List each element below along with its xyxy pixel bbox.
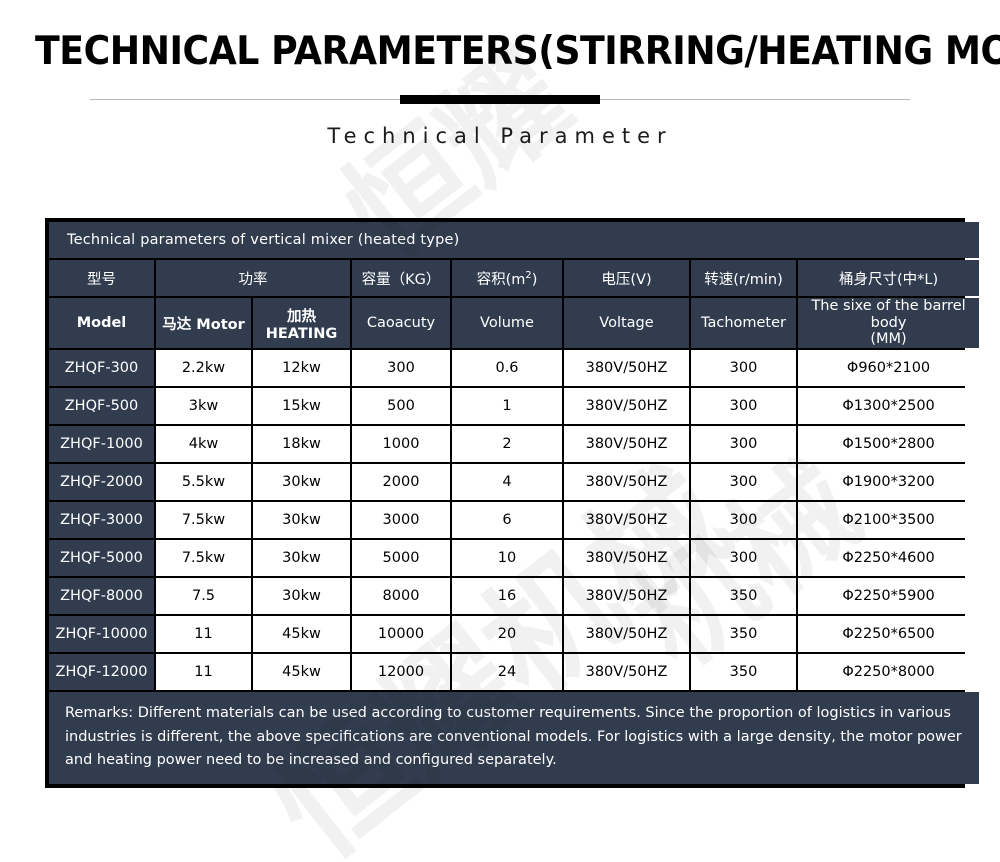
header-tachometer-cn: 转速(r/min) [691,260,796,296]
cell-capacity: 2000 [352,464,450,500]
cell-barrel: Φ1300*2500 [798,388,979,424]
cell-voltage: 380V/50HZ [564,654,689,690]
header-capacity-cn: 容量（KG） [352,260,450,296]
table-row: ZHQF-5003kw15kw5001380V/50HZ300Φ1300*250… [49,388,979,424]
cell-model: ZHQF-300 [49,350,154,386]
header-capacity-en: Caoacuty [352,298,450,348]
header-motor-en: 马达 Motor [156,298,251,348]
cell-model: ZHQF-5000 [49,540,154,576]
cell-voltage: 380V/50HZ [564,578,689,614]
cell-capacity: 500 [352,388,450,424]
cell-voltage: 380V/50HZ [564,350,689,386]
cell-heating: 30kw [253,578,350,614]
cell-capacity: 10000 [352,616,450,652]
cell-motor: 5.5kw [156,464,251,500]
cell-capacity: 300 [352,350,450,386]
cell-voltage: 380V/50HZ [564,616,689,652]
header-model-en: Model [49,298,154,348]
page-header: TECHNICAL PARAMETERS(STIRRING/HEATING MO… [0,0,1000,148]
cell-model: ZHQF-10000 [49,616,154,652]
cell-capacity: 5000 [352,540,450,576]
cell-tachometer: 300 [691,350,796,386]
cell-motor: 7.5 [156,578,251,614]
cell-volume: 24 [452,654,562,690]
cell-barrel: Φ960*2100 [798,350,979,386]
cell-heating: 12kw [253,350,350,386]
cell-model: ZHQF-8000 [49,578,154,614]
cell-heating: 15kw [253,388,350,424]
header-heating-en: 加热HEATING [253,298,350,348]
cell-heating: 45kw [253,654,350,690]
cell-barrel: Φ1900*3200 [798,464,979,500]
table-header-row-en: Model 马达 Motor 加热HEATING Caoacuty Volume… [49,298,979,348]
cell-model: ZHQF-2000 [49,464,154,500]
cell-barrel: Φ2250*4600 [798,540,979,576]
table-banner-row: Technical parameters of vertical mixer (… [49,222,979,258]
cell-volume: 0.6 [452,350,562,386]
cell-motor: 11 [156,616,251,652]
table-row: ZHQF-120001145kw1200024380V/50HZ350Φ2250… [49,654,979,690]
cell-volume: 4 [452,464,562,500]
cell-tachometer: 350 [691,578,796,614]
table-row: ZHQF-50007.5kw30kw500010380V/50HZ300Φ225… [49,540,979,576]
header-volume-cn-suffix: ) [532,272,538,288]
title-divider [90,94,910,106]
header-barrel-en: The sixe of the barrel body (MM) [798,298,979,348]
header-volume-cn: 容积(m2) [452,260,562,296]
table-row: ZHQF-30007.5kw30kw30006380V/50HZ300Φ2100… [49,502,979,538]
cell-model: ZHQF-12000 [49,654,154,690]
table-row: ZHQF-20005.5kw30kw20004380V/50HZ300Φ1900… [49,464,979,500]
cell-motor: 2.2kw [156,350,251,386]
cell-voltage: 380V/50HZ [564,388,689,424]
cell-barrel: Φ2250*8000 [798,654,979,690]
table-row: ZHQF-3002.2kw12kw3000.6380V/50HZ300Φ960*… [49,350,979,386]
cell-heating: 30kw [253,540,350,576]
cell-capacity: 3000 [352,502,450,538]
cell-model: ZHQF-500 [49,388,154,424]
cell-volume: 6 [452,502,562,538]
cell-tachometer: 300 [691,502,796,538]
page-title: TECHNICAL PARAMETERS(STIRRING/HEATING MO… [35,30,965,74]
cell-volume: 2 [452,426,562,462]
header-voltage-cn: 电压(V) [564,260,689,296]
cell-volume: 16 [452,578,562,614]
cell-motor: 3kw [156,388,251,424]
cell-voltage: 380V/50HZ [564,426,689,462]
spec-table-container: Technical parameters of vertical mixer (… [45,218,965,788]
cell-capacity: 8000 [352,578,450,614]
cell-tachometer: 350 [691,616,796,652]
cell-tachometer: 300 [691,388,796,424]
header-power-cn: 功率 [156,260,350,296]
header-barrel-en-line1: The sixe of the barrel body [800,298,977,331]
table-row: ZHQF-10004kw18kw10002380V/50HZ300Φ1500*2… [49,426,979,462]
cell-capacity: 12000 [352,654,450,690]
header-volume-en: Volume [452,298,562,348]
cell-capacity: 1000 [352,426,450,462]
spec-table: Technical parameters of vertical mixer (… [47,220,981,786]
cell-voltage: 380V/50HZ [564,540,689,576]
cell-voltage: 380V/50HZ [564,502,689,538]
header-barrel-en-line2: (MM) [800,331,977,348]
header-model-cn: 型号 [49,260,154,296]
cell-volume: 20 [452,616,562,652]
cell-motor: 11 [156,654,251,690]
cell-barrel: Φ2250*6500 [798,616,979,652]
header-volume-cn-prefix: 容积(m [477,272,526,288]
cell-motor: 7.5kw [156,540,251,576]
table-row: ZHQF-100001145kw1000020380V/50HZ350Φ2250… [49,616,979,652]
cell-model: ZHQF-1000 [49,426,154,462]
cell-tachometer: 300 [691,540,796,576]
header-barrel-cn: 桶身尺寸(中*L) [798,260,979,296]
cell-motor: 7.5kw [156,502,251,538]
cell-heating: 30kw [253,502,350,538]
page-subtitle: Technical Parameter [0,124,1000,148]
table-data-body: ZHQF-3002.2kw12kw3000.6380V/50HZ300Φ960*… [49,350,979,690]
table-header-row-cn: 型号 功率 容量（KG） 容积(m2) 电压(V) 转速(r/min) 桶身尺寸… [49,260,979,296]
cell-volume: 10 [452,540,562,576]
cell-tachometer: 300 [691,464,796,500]
cell-heating: 18kw [253,426,350,462]
cell-tachometer: 350 [691,654,796,690]
cell-model: ZHQF-3000 [49,502,154,538]
cell-tachometer: 300 [691,426,796,462]
cell-motor: 4kw [156,426,251,462]
cell-voltage: 380V/50HZ [564,464,689,500]
cell-barrel: Φ2250*5900 [798,578,979,614]
table-remarks: Remarks: Different materials can be used… [49,692,979,784]
divider-accent-bar [400,95,600,104]
cell-heating: 30kw [253,464,350,500]
header-tachometer-en: Tachometer [691,298,796,348]
cell-volume: 1 [452,388,562,424]
table-banner: Technical parameters of vertical mixer (… [49,222,979,258]
cell-barrel: Φ2100*3500 [798,502,979,538]
header-voltage-en: Voltage [564,298,689,348]
table-remarks-row: Remarks: Different materials can be used… [49,692,979,784]
table-row: ZHQF-80007.530kw800016380V/50HZ350Φ2250*… [49,578,979,614]
cell-barrel: Φ1500*2800 [798,426,979,462]
cell-heating: 45kw [253,616,350,652]
